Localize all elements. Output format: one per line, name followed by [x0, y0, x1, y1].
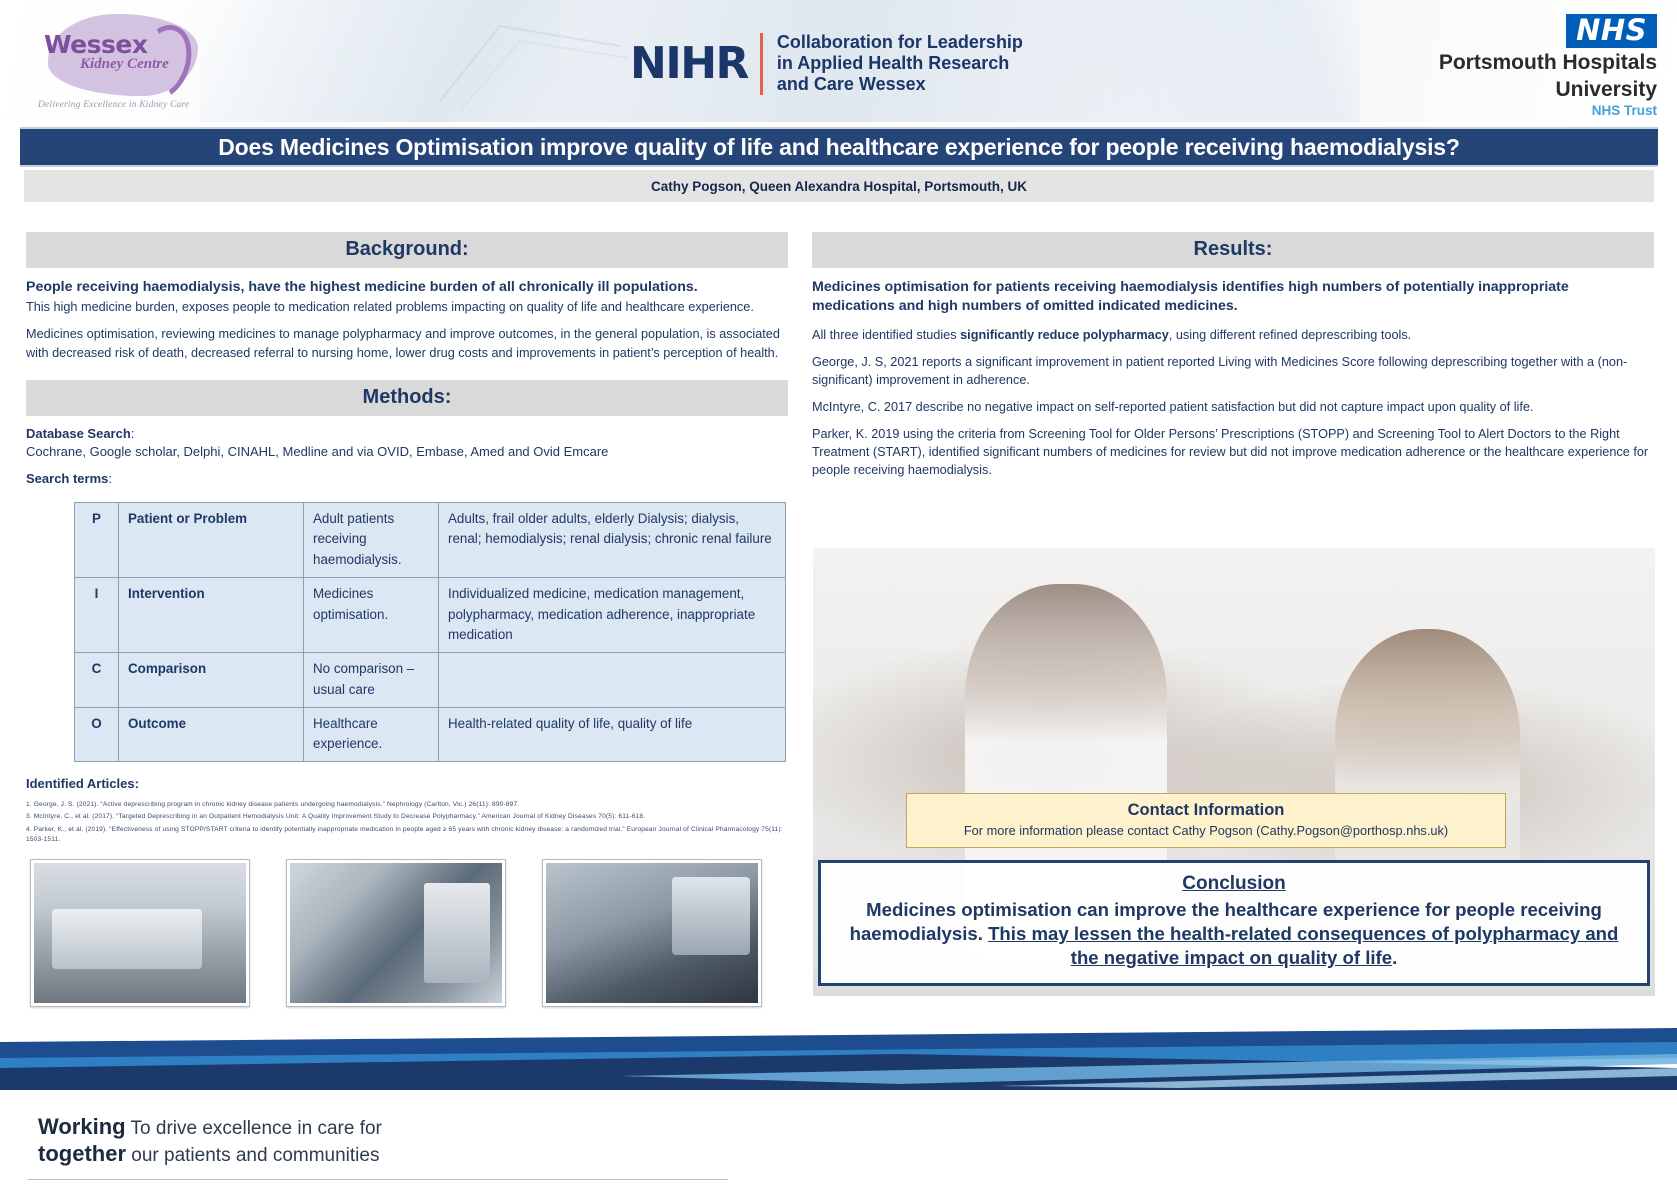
contact-title: Contact Information	[919, 801, 1493, 820]
contact-text: For more information please contact Cath…	[919, 823, 1493, 838]
pico-population: Medicines optimisation.	[304, 577, 439, 652]
nihr-strapline-line2: in Applied Health Research	[777, 53, 1023, 74]
pico-terms: Individualized medicine, medication mana…	[439, 577, 786, 652]
database-search-text: Cochrane, Google scholar, Delphi, CINAHL…	[26, 444, 788, 459]
footer-text-1: To drive excellence in care for	[131, 1118, 382, 1139]
photo-row	[30, 859, 788, 1007]
page-title: Does Medicines Optimisation improve qual…	[218, 134, 1460, 161]
pico-population: No comparison – usual care	[304, 653, 439, 708]
conclusion-title: Conclusion	[837, 873, 1631, 895]
background-lead: People receiving haemodialysis, have the…	[26, 278, 788, 296]
methods-section-header: Methods:	[26, 380, 788, 416]
author-line: Cathy Pogson, Queen Alexandra Hospital, …	[651, 179, 1027, 194]
banner-line-art	[430, 6, 630, 116]
poster-title-bar: Does Medicines Optimisation improve qual…	[20, 127, 1658, 167]
nhs-trust-sublabel: NHS Trust	[1357, 103, 1657, 118]
left-column: Background: People receiving haemodialys…	[26, 232, 788, 1007]
right-column: Results: Medicines optimisation for pati…	[812, 232, 1654, 479]
results-paragraph-3: McIntyre, C. 2017 describe no negative i…	[812, 398, 1654, 416]
nhs-logo: NHS Portsmouth Hospitals University NHS …	[1357, 14, 1657, 118]
results-paragraph-1: All three identified studies significant…	[812, 326, 1654, 344]
search-terms-colon: :	[108, 471, 112, 486]
pico-letter: O	[75, 707, 119, 762]
wessex-kidney-centre-logo: Wessex Kidney Centre Delivering Excellen…	[30, 8, 210, 116]
nhs-trust-line2: University	[1357, 78, 1657, 101]
footer-line-2: together our patients and communities	[38, 1141, 382, 1168]
reference-item: 3. McIntyre, C., et al. (2017). “Targete…	[26, 812, 788, 822]
search-terms-label: Search terms:	[26, 471, 788, 486]
background-paragraph-2: Medicines optimisation, reviewing medici…	[26, 325, 788, 361]
dialysis-ward-bed-photo	[34, 863, 246, 1003]
wessex-logo-tagline: Delivering Excellence in Kidney Care	[38, 100, 218, 110]
conclusion-text-underlined: This may lessen the health-related conse…	[988, 923, 1618, 968]
pico-terms: Adults, frail older adults, elderly Dial…	[439, 502, 786, 577]
database-search-label: Database Search:	[26, 426, 788, 441]
contact-information-box: Contact Information For more information…	[906, 793, 1506, 848]
nihr-strapline-line1: Collaboration for Leadership	[777, 32, 1023, 53]
reference-item: 4. Parker, K., et al. (2019). “Effective…	[26, 825, 788, 845]
table-row: I Intervention Medicines optimisation. I…	[75, 577, 786, 652]
database-search-colon: :	[131, 426, 135, 441]
conclusion-text: Medicines optimisation can improve the h…	[837, 898, 1631, 969]
footer-wave-graphic	[0, 1028, 1677, 1090]
wessex-logo-subtitle: Kidney Centre	[80, 56, 210, 73]
pico-letter: C	[75, 653, 119, 708]
pico-name: Comparison	[119, 653, 304, 708]
photo-frame	[286, 859, 506, 1007]
table-row: O Outcome Healthcare experience. Health-…	[75, 707, 786, 762]
pico-name: Intervention	[119, 577, 304, 652]
results-section-header: Results:	[812, 232, 1654, 268]
nihr-strapline: Collaboration for Leadership in Applied …	[777, 32, 1023, 96]
dialysis-machine-patient-photo	[290, 863, 502, 1003]
footer-strapline: Working To drive excellence in care for …	[38, 1114, 382, 1168]
background-heading: Background:	[345, 238, 468, 260]
results-paragraph-2: George, J. S, 2021 reports a significant…	[812, 353, 1654, 389]
footer-divider	[28, 1179, 728, 1180]
nhs-trust-line1: Portsmouth Hospitals	[1357, 51, 1657, 74]
database-search-label-text: Database Search	[26, 426, 131, 441]
nihr-logo: NIHR Collaboration for Leadership in App…	[630, 32, 1023, 96]
identified-articles-heading: Identified Articles:	[26, 776, 788, 791]
results-p1-emphasis: significantly reduce polypharmacy	[960, 328, 1169, 342]
author-bar: Cathy Pogson, Queen Alexandra Hospital, …	[24, 170, 1654, 202]
results-lead: Medicines optimisation for patients rece…	[812, 278, 1654, 317]
nihr-divider-rule	[760, 33, 763, 95]
photo-frame	[542, 859, 762, 1007]
search-terms-label-text: Search terms	[26, 471, 108, 486]
conclusion-text-part2: .	[1392, 947, 1397, 968]
nihr-strapline-line3: and Care Wessex	[777, 74, 1023, 95]
nhs-wordmark: NHS	[1566, 14, 1657, 48]
pico-letter: I	[75, 577, 119, 652]
reference-item: 1. George, J. S. (2021). “Active depresc…	[26, 800, 788, 810]
pico-name: Patient or Problem	[119, 502, 304, 577]
footer-word-working: Working	[38, 1114, 126, 1139]
results-paragraph-4: Parker, K. 2019 using the criteria from …	[812, 425, 1654, 479]
methods-heading: Methods:	[363, 386, 452, 408]
banner-building-photo-right	[1060, 0, 1360, 122]
conclusion-box: Conclusion Medicines optimisation can im…	[818, 860, 1650, 986]
pico-terms: Health-related quality of life, quality …	[439, 707, 786, 762]
table-row: P Patient or Problem Adult patients rece…	[75, 502, 786, 577]
background-paragraph-1: This high medicine burden, exposes peopl…	[26, 298, 788, 316]
footer-word-together: together	[38, 1141, 126, 1166]
pico-search-terms-table: P Patient or Problem Adult patients rece…	[74, 502, 786, 763]
wessex-logo-name: Wessex	[44, 30, 194, 59]
table-row: C Comparison No comparison – usual care	[75, 653, 786, 708]
results-heading: Results:	[1194, 238, 1273, 260]
pico-letter: P	[75, 502, 119, 577]
background-section-header: Background:	[26, 232, 788, 268]
patient-on-haemodialysis-photo	[546, 863, 758, 1003]
pico-terms	[439, 653, 786, 708]
results-p1-pre: All three identified studies	[812, 328, 960, 342]
footer-line-1: Working To drive excellence in care for	[38, 1114, 382, 1141]
photo-frame	[30, 859, 250, 1007]
nihr-acronym: NIHR	[630, 42, 748, 86]
pico-population: Adult patients receiving haemodialysis.	[304, 502, 439, 577]
results-p1-post: , using different refined deprescribing …	[1169, 328, 1411, 342]
poster-root: Wessex Kidney Centre Delivering Excellen…	[0, 0, 1677, 1186]
footer-text-2: our patients and communities	[131, 1145, 379, 1166]
top-banner: Wessex Kidney Centre Delivering Excellen…	[0, 0, 1677, 122]
pico-population: Healthcare experience.	[304, 707, 439, 762]
pico-name: Outcome	[119, 707, 304, 762]
